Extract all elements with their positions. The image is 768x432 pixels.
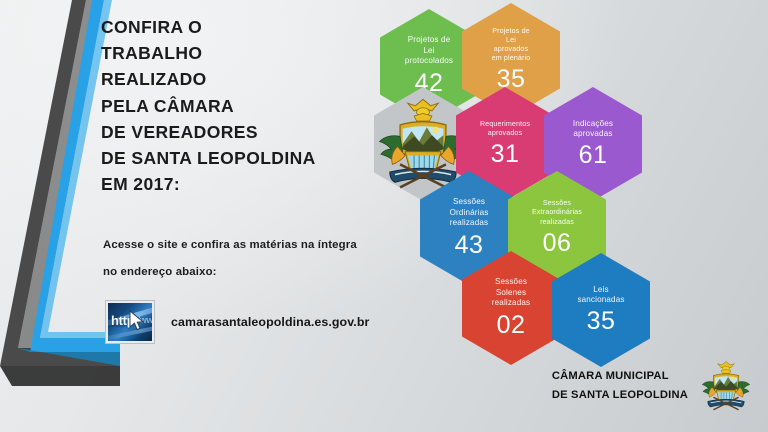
- website-url[interactable]: camarasantaleopoldina.es.gov.br: [171, 315, 369, 329]
- headline-line-3: REALIZADO: [101, 66, 401, 92]
- headline-line-7: EM 2017:: [101, 171, 401, 197]
- http-www-icon: ://www http: [105, 300, 155, 344]
- headline-line-1: CONFIRA O: [101, 14, 401, 40]
- hex-sessoes-solenes[interactable]: Sessões Solenes realizadas 02: [460, 250, 562, 366]
- slide-canvas: CONFIRA O TRABALHO REALIZADO PELA CÂMARA…: [0, 0, 768, 432]
- headline-line-5: DE VEREADORES: [101, 119, 401, 145]
- hex-leis-sancionadas[interactable]: Leis sancionadas 35: [550, 252, 652, 368]
- mouse-cursor-icon: [129, 310, 147, 337]
- statistics-honeycomb: Projetos de Lei protocolados 42 Projetos…: [360, 0, 660, 350]
- website-row[interactable]: ://www http camarasantaleopoldina.es.gov…: [105, 300, 369, 344]
- headline-line-4: PELA CÂMARA: [101, 93, 401, 119]
- coat-of-arms-footer-icon: [698, 358, 754, 414]
- headline-line-2: TRABALHO: [101, 40, 401, 66]
- page-title: CONFIRA O TRABALHO REALIZADO PELA CÂMARA…: [101, 14, 401, 197]
- footer-branding: CÂMARA MUNICIPAL DE SANTA LEOPOLDINA: [552, 358, 754, 414]
- footer-line-1: CÂMARA MUNICIPAL: [552, 367, 688, 386]
- headline-line-6: DE SANTA LEOPOLDINA: [101, 145, 401, 171]
- footer-line-2: DE SANTA LEOPOLDINA: [552, 386, 688, 405]
